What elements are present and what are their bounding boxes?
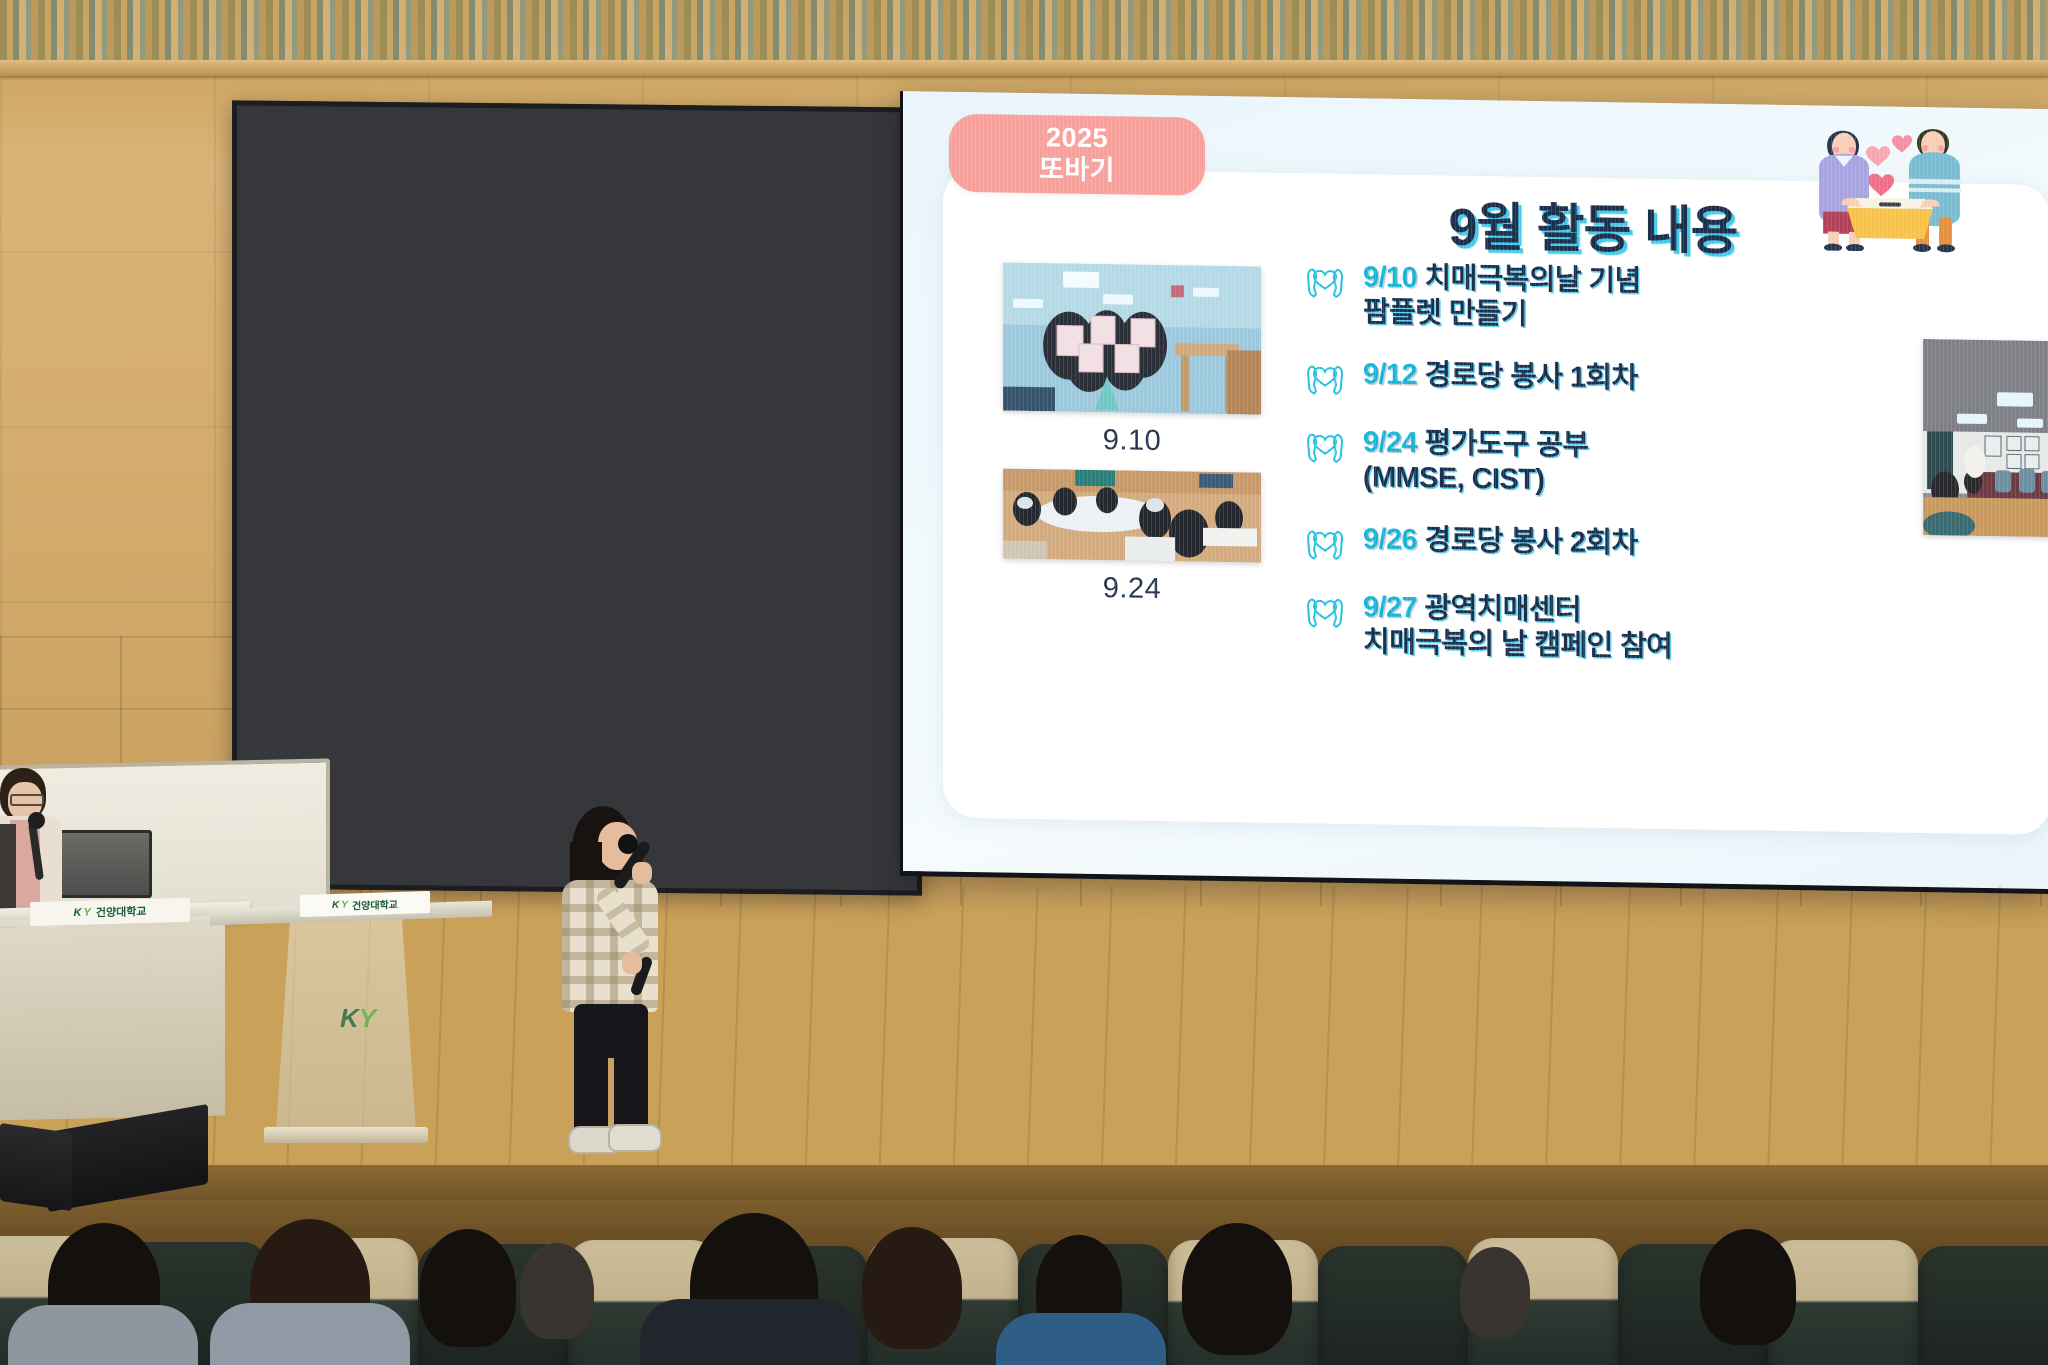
seat — [1918, 1246, 2048, 1365]
hands-heart-icon — [1303, 523, 1347, 564]
program-year-badge: 2025 또바기 — [949, 114, 1205, 196]
head-table-body — [0, 916, 225, 1121]
ky-watermark-k: K — [340, 1003, 359, 1034]
lectern-base — [264, 1127, 428, 1143]
list-item-date: 9/27 — [1363, 591, 1417, 624]
lectern-nameplate: KY 건양대학교 — [300, 891, 430, 917]
list-item-label-2: 치매극복의 날 캠페인 참여 — [1363, 626, 1672, 663]
audience-seating — [0, 1232, 2048, 1365]
list-item-text: 9/10 치매극복의날 기념 팜플렛 만들기 — [1363, 260, 1641, 335]
list-item-label: 경로당 봉사 1회차 — [1425, 359, 1638, 394]
ky-logo-icon: KY — [332, 899, 348, 910]
photo-caption-924: 9.24 — [1003, 571, 1261, 608]
list-item-label-2: (MMSE, CIST) — [1363, 461, 1544, 496]
presenter-leg-gap — [608, 1058, 614, 1132]
list-item-label-2: 팜플렛 만들기 — [1363, 297, 1527, 332]
seat — [1318, 1246, 1468, 1365]
list-item-text: 9/24 평가도구 공부 (MMSE, CIST) — [1363, 425, 1588, 499]
list-item: 9/10 치매극복의날 기념 팜플렛 만들기 — [1303, 259, 1963, 340]
list-item-date: 9/24 — [1363, 426, 1417, 459]
list-item: 9/26 경로당 봉사 2회차 — [1303, 521, 1963, 573]
ky-logo-y-2: Y — [341, 899, 348, 910]
list-item-text: 9/26 경로당 봉사 2회차 — [1363, 522, 1638, 562]
audience-shoulders — [210, 1303, 410, 1365]
presentation-slide: 2025 또바기 9월 활동 내용 — [903, 91, 2048, 889]
audience-head — [862, 1227, 962, 1349]
list-item-date: 9/26 — [1363, 523, 1417, 556]
audience-shoulders — [996, 1313, 1166, 1365]
acoustic-slat-ceiling-band — [0, 0, 2048, 62]
ky-logo-k: K — [74, 907, 82, 919]
audience-head — [1460, 1247, 1530, 1337]
glasses-icon — [10, 794, 44, 806]
list-item-label: 치매극복의날 기념 — [1425, 262, 1641, 297]
presenter-hand — [632, 862, 652, 884]
stage-monitor-speaker-2 — [0, 1123, 72, 1211]
audience-shoulders — [640, 1299, 860, 1365]
hands-heart-icon — [1303, 261, 1347, 302]
lectern: KY KY 건양대학교 — [262, 905, 422, 1150]
lectern-logo-watermark-icon: KY — [322, 989, 394, 1047]
audience-head — [1182, 1223, 1292, 1355]
university-name-ko-2: 건양대학교 — [352, 895, 398, 911]
audience-head — [520, 1243, 594, 1339]
presenter-hand-lower — [622, 952, 642, 974]
hands-heart-icon — [1303, 358, 1347, 399]
list-item: 9/12 경로당 봉사 1회차 — [1303, 356, 1963, 408]
ky-logo-k-2: K — [332, 899, 339, 910]
two-people-donation-box-hearts-icon — [1783, 115, 1998, 253]
ky-logo-icon: KY — [74, 907, 91, 919]
ky-logo-y: Y — [84, 907, 91, 919]
standing-presenter-with-microphone — [556, 806, 666, 1158]
activity-list: 9/10 치매극복의날 기념 팜플렛 만들기 9/12 — [1303, 259, 1963, 696]
audience-head — [420, 1229, 516, 1347]
screenshot-root: 2025 또바기 9월 활동 내용 — [0, 0, 2048, 1365]
hands-heart-icon — [1303, 426, 1347, 467]
presenter-shoe-right — [608, 1124, 662, 1152]
audience-head — [1700, 1229, 1796, 1345]
photo-group-pamphlets — [1003, 263, 1261, 415]
wall-trim-rail — [0, 60, 2048, 76]
microphone-head-icon — [28, 812, 45, 829]
lectern-body: KY — [276, 919, 416, 1131]
page-title: 9월 활동 내용 — [1333, 183, 1853, 266]
list-item-text: 9/27 광역치매센터 치매극복의 날 캠페인 참여 — [1363, 590, 1672, 666]
head-table-nameplate: KY 건양대학교 — [30, 898, 190, 926]
list-item-label: 경로당 봉사 2회차 — [1425, 524, 1638, 559]
audience-shoulders — [8, 1305, 198, 1365]
list-item-label: 광역치매센터 — [1425, 592, 1581, 626]
badge-program: 또바기 — [1039, 154, 1115, 187]
badge-year: 2025 — [1046, 122, 1108, 155]
hands-heart-icon — [1303, 591, 1347, 632]
dark-display-board — [232, 100, 922, 895]
university-name-ko: 건양대학교 — [96, 903, 147, 920]
stage-floor-lip — [0, 1165, 2048, 1205]
list-item-date: 9/10 — [1363, 261, 1417, 294]
list-item-label: 평가도구 공부 — [1425, 427, 1589, 462]
photo-classroom-study — [1003, 469, 1261, 563]
photo-caption-910: 9.10 — [1003, 423, 1261, 460]
ky-watermark-y: Y — [359, 1003, 376, 1034]
list-item: 9/27 광역치매센터 치매극복의 날 캠페인 참여 — [1303, 589, 1963, 670]
microphone-head-icon — [618, 834, 638, 854]
list-item-text: 9/12 경로당 봉사 1회차 — [1363, 357, 1638, 397]
projection-screen: 2025 또바기 9월 활동 내용 — [900, 91, 2048, 894]
list-item: 9/24 평가도구 공부 (MMSE, CIST) — [1303, 424, 1963, 505]
list-item-date: 9/12 — [1363, 358, 1417, 391]
